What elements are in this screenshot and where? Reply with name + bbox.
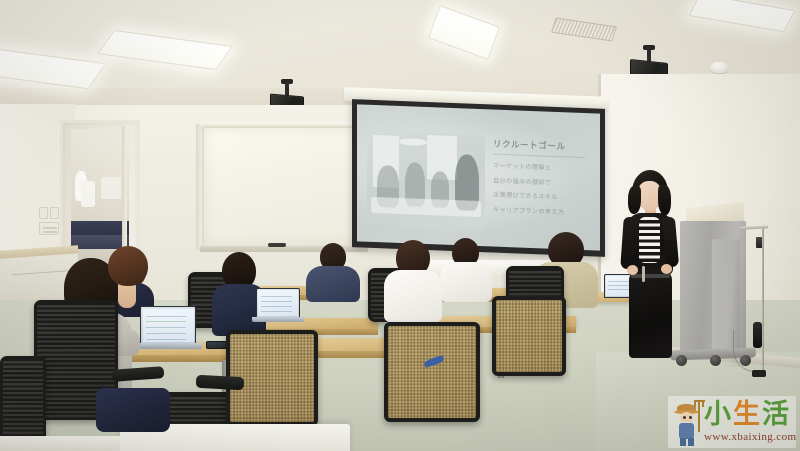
slide-bullet-1: マーケットの理解と bbox=[493, 161, 593, 174]
chair-right-rear[interactable] bbox=[492, 296, 566, 376]
podium-caster bbox=[710, 355, 721, 366]
attendee-body bbox=[306, 266, 360, 302]
chair-mesh-backrest bbox=[492, 296, 566, 376]
presenter-hair-side bbox=[658, 185, 671, 215]
presenter-hair-side bbox=[628, 186, 641, 214]
mascot-leg bbox=[680, 438, 686, 446]
classroom-photo: リクルートゴール マーケットの理解と 自分の強みの棚卸で 企業選びできるスキル … bbox=[0, 0, 800, 451]
foreground-desk-left bbox=[0, 436, 120, 451]
slide-bullet-4: キャリアプランの考え方 bbox=[493, 204, 593, 217]
laptop-base bbox=[252, 317, 304, 322]
smoke-detector-icon bbox=[710, 62, 729, 73]
watermark-char-1: 小 bbox=[704, 401, 731, 428]
mascot-eye bbox=[689, 416, 692, 419]
pitchfork-icon bbox=[698, 400, 700, 432]
presenter-hand-right bbox=[661, 264, 672, 274]
watermark-url: www.xbaixing.com bbox=[704, 431, 796, 443]
slide-photo bbox=[367, 131, 485, 228]
chair-mesh-right[interactable] bbox=[384, 322, 480, 422]
slide-text-block: リクルートゴール マーケットの理解と 自分の強みの棚卸で 企業選びできるスキル … bbox=[493, 138, 593, 223]
light-switch-b[interactable] bbox=[50, 207, 59, 219]
slide-bullet-3: 企業選びできるスキル bbox=[493, 190, 593, 203]
laptop-base bbox=[136, 343, 202, 349]
projector-screen: リクルートゴール マーケットの理解と 自分の強みの棚卸で 企業選びできるスキル … bbox=[357, 104, 600, 250]
presenter bbox=[614, 170, 684, 370]
mascot-leg bbox=[688, 438, 694, 446]
speaker-mount bbox=[285, 82, 289, 95]
watermark: 小 生 活 www.xbaixing.com bbox=[668, 396, 796, 448]
watermark-char-3: 活 bbox=[762, 401, 789, 428]
mascot-eye bbox=[683, 416, 686, 419]
chair-mesh-backrest bbox=[384, 322, 480, 422]
farmer-mascot-icon bbox=[672, 398, 702, 444]
slide-photo-lamp bbox=[399, 138, 427, 146]
presenter-striped-top bbox=[639, 217, 660, 263]
presenter-waistband bbox=[631, 274, 670, 278]
mic-stand-pole bbox=[762, 228, 764, 370]
adjacent-room-object bbox=[101, 177, 121, 199]
podium-caster bbox=[676, 355, 687, 366]
attendee-body bbox=[440, 262, 492, 302]
whiteboard-marker bbox=[268, 243, 286, 247]
laptop-screen bbox=[258, 290, 298, 316]
speaker-mount bbox=[647, 48, 651, 61]
laptop-front[interactable] bbox=[140, 306, 196, 344]
attendee-head bbox=[108, 246, 148, 286]
watermark-char-2: 生 bbox=[733, 401, 760, 428]
presenter-trousers bbox=[629, 270, 672, 358]
slide-heading: リクルートゴール bbox=[493, 138, 593, 154]
attendee-body bbox=[384, 270, 442, 322]
attendee-legs bbox=[96, 388, 170, 432]
whiteboard bbox=[202, 126, 366, 248]
watermark-characters: 小 生 活 bbox=[704, 397, 796, 431]
laptop-mid[interactable] bbox=[256, 288, 300, 318]
presenter-drawstring bbox=[642, 266, 645, 282]
laptop-screen bbox=[143, 309, 194, 342]
adjacent-room-object bbox=[81, 181, 95, 207]
mascot-overalls bbox=[679, 423, 694, 439]
slide-bullet-2: 自分の強みの棚卸で bbox=[493, 175, 593, 188]
light-switch-a[interactable] bbox=[39, 207, 48, 219]
slide-divider bbox=[493, 154, 585, 159]
slide-photo-table bbox=[371, 197, 481, 217]
mic-stand-foot bbox=[752, 370, 766, 377]
chair-armrest bbox=[196, 375, 245, 390]
outlet-panel[interactable] bbox=[39, 222, 59, 235]
presenter-hand-left bbox=[627, 265, 638, 275]
